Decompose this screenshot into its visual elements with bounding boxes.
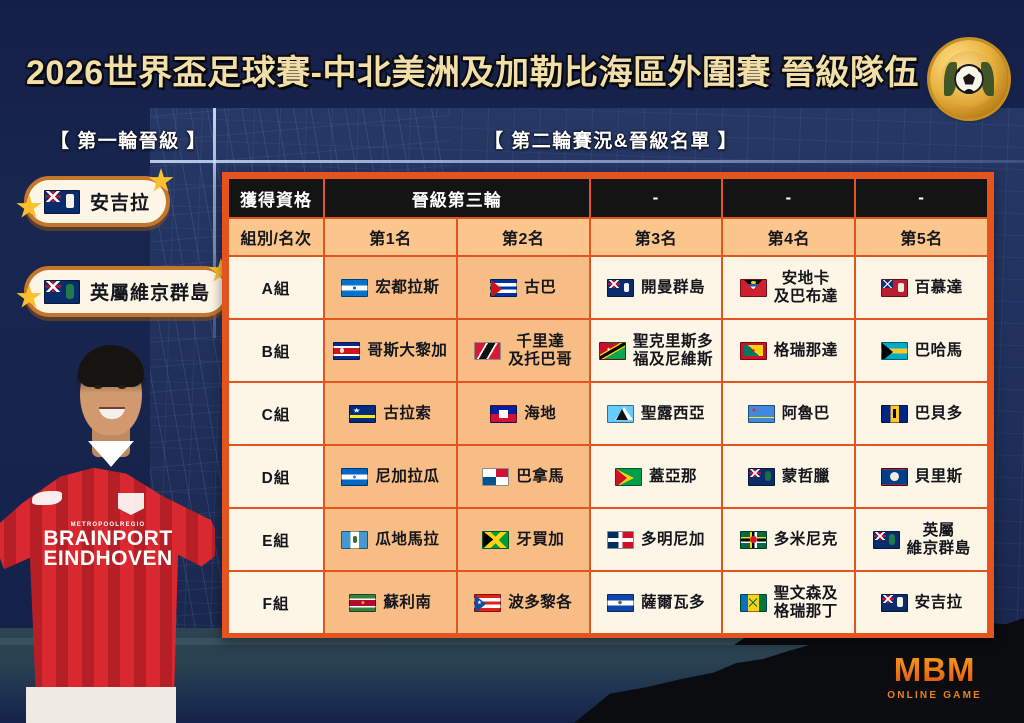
player-eye-left <box>94 385 102 389</box>
team-name: 古巴 <box>524 279 556 296</box>
team-cell[interactable]: 蓋亞那 <box>590 445 723 508</box>
table-rank-row: 組別/名次第1名第2名第3名第4名第5名 <box>228 218 988 256</box>
team-name: 聖文森及 格瑞那丁 <box>774 585 838 620</box>
team-cell[interactable]: 哥斯大黎加 <box>324 319 457 382</box>
team-cell[interactable]: 蒙哲臘 <box>722 445 855 508</box>
team-cell[interactable]: 阿魯巴 <box>722 382 855 445</box>
puma-logo-icon <box>32 491 62 505</box>
team-cell[interactable]: 聖克里斯多 福及尼維斯 <box>590 319 723 382</box>
rank-header: 第1名 <box>324 218 457 256</box>
team-cell-inner: 蘇利南 <box>325 594 456 612</box>
player-hair <box>78 345 144 387</box>
flag-icon-dom <box>607 531 634 549</box>
flag-icon-tri <box>474 342 501 360</box>
team-cell-inner: 千里達 及托巴哥 <box>458 333 589 368</box>
flag-icon-guy <box>615 468 642 486</box>
table-row: C組古拉索海地聖露西亞阿魯巴巴貝多 <box>228 382 988 445</box>
team-name: 多米尼克 <box>774 531 838 548</box>
team-cell[interactable]: 安吉拉 <box>855 571 988 634</box>
team-cell-inner: 蓋亞那 <box>591 468 722 486</box>
team-cell[interactable]: 多米尼克 <box>722 508 855 571</box>
team-cell[interactable]: 英屬 維京群島 <box>855 508 988 571</box>
team-cell[interactable]: 千里達 及托巴哥 <box>457 319 590 382</box>
gold-medal-soccer-icon <box>930 40 1008 118</box>
flag-icon-sur <box>349 594 376 612</box>
team-name: 哥斯大黎加 <box>367 342 447 359</box>
team-cell-inner: 尼加拉瓜 <box>325 468 456 486</box>
team-cell-inner: 聖克里斯多 福及尼維斯 <box>591 333 722 368</box>
flag-icon-hon <box>341 279 368 297</box>
status-row-label: 獲得資格 <box>228 178 324 218</box>
first-round-team-name: 安吉拉 <box>90 188 150 215</box>
first-round-pill[interactable]: 英屬維京群島 <box>24 266 230 317</box>
team-cell-inner: 多明尼加 <box>591 531 722 549</box>
team-cell-inner: 貝里斯 <box>856 468 987 486</box>
team-name: 薩爾瓦多 <box>641 594 705 611</box>
team-cell[interactable]: 聖文森及 格瑞那丁 <box>722 571 855 634</box>
team-cell-inner: 多米尼克 <box>723 531 854 549</box>
team-cell-inner: 古巴 <box>458 279 589 297</box>
team-name: 英屬 維京群島 <box>907 522 971 557</box>
flag-icon-vgb <box>873 531 900 549</box>
team-cell-inner: 波多黎各 <box>458 594 589 612</box>
player-photo: METROPOOLREGIO BRAINPORT EINDHOVEN <box>0 323 215 723</box>
flag-icon-ber <box>881 279 908 297</box>
team-name: 多明尼加 <box>641 531 705 548</box>
flag-icon-crc <box>333 342 360 360</box>
mbm-tagline: ONLINE GAME <box>887 690 982 701</box>
team-name: 巴貝多 <box>915 405 963 422</box>
team-name: 阿魯巴 <box>782 405 830 422</box>
team-cell[interactable]: 古拉索 <box>324 382 457 445</box>
flag-icon-msr <box>748 468 775 486</box>
team-cell-inner: 開曼群島 <box>591 279 722 297</box>
status-cell: - <box>855 178 988 218</box>
team-name: 巴拿馬 <box>516 468 564 485</box>
team-cell-inner: 聖露西亞 <box>591 405 722 423</box>
team-name: 古拉索 <box>383 405 431 422</box>
rank-header: 第3名 <box>590 218 723 256</box>
medal-inner <box>941 51 997 107</box>
flag-icon-grn <box>740 342 767 360</box>
table-status-row: 獲得資格晉級第三輪--- <box>228 178 988 218</box>
team-cell-inner: 薩爾瓦多 <box>591 594 722 612</box>
flag-icon-nca <box>341 468 368 486</box>
team-cell[interactable]: 古巴 <box>457 256 590 319</box>
team-cell-inner: 宏都拉斯 <box>325 279 456 297</box>
team-name: 聖克里斯多 福及尼維斯 <box>633 333 713 368</box>
team-name: 百慕達 <box>915 279 963 296</box>
flag-icon-cuw <box>349 405 376 423</box>
team-name: 巴哈馬 <box>915 342 963 359</box>
mbm-watermark: MBM ONLINE GAME <box>887 651 982 701</box>
team-cell-inner: 阿魯巴 <box>723 405 854 423</box>
flag-icon-abw <box>748 405 775 423</box>
flag-icon-aia <box>44 190 80 214</box>
team-cell[interactable]: 巴拿馬 <box>457 445 590 508</box>
flag-icon-pur <box>474 594 501 612</box>
first-round-team-name: 英屬維京群島 <box>90 278 210 305</box>
flag-icon-aia <box>881 594 908 612</box>
first-round-heading: 【 第一輪晉級 】 <box>50 126 207 153</box>
team-cell[interactable]: 宏都拉斯 <box>324 256 457 319</box>
flag-icon-vgb <box>44 280 80 304</box>
team-cell[interactable]: 聖露西亞 <box>590 382 723 445</box>
flag-icon-brb <box>881 405 908 423</box>
team-name: 牙買加 <box>516 531 564 548</box>
team-name: 尼加拉瓜 <box>375 468 439 485</box>
flag-icon-dma <box>740 531 767 549</box>
team-cell-inner: 瓜地馬拉 <box>325 531 456 549</box>
page-title: 2026世界盃足球賽-中北美洲及加勒比海區外圍賽 晉級隊伍 <box>26 45 919 94</box>
flag-icon-pan <box>482 468 509 486</box>
flag-icon-cay <box>607 279 634 297</box>
status-cell: - <box>722 178 855 218</box>
team-cell-inner: 巴貝多 <box>856 405 987 423</box>
flag-icon-cub <box>490 279 517 297</box>
group-label: C組 <box>228 382 324 445</box>
status-cell: 晉級第三輪 <box>324 178 590 218</box>
page-title-bar: 2026世界盃足球賽-中北美洲及加勒比海區外圍賽 晉級隊伍 <box>0 38 1024 100</box>
team-cell-inner: 巴拿馬 <box>458 468 589 486</box>
team-name: 蒙哲臘 <box>782 468 830 485</box>
group-label: E組 <box>228 508 324 571</box>
rank-header: 第5名 <box>855 218 988 256</box>
team-cell-inner: 英屬 維京群島 <box>856 522 987 557</box>
team-cell-inner: 百慕達 <box>856 279 987 297</box>
team-cell[interactable]: 海地 <box>457 382 590 445</box>
team-name: 開曼群島 <box>641 279 705 296</box>
team-cell[interactable]: 薩爾瓦多 <box>590 571 723 634</box>
flag-icon-jam <box>482 531 509 549</box>
jersey-sponsor-line2: EINDHOVEN <box>28 549 188 569</box>
team-name: 格瑞那達 <box>774 342 838 359</box>
team-name: 安地卡 及巴布達 <box>774 270 838 305</box>
first-round-pill[interactable]: 安吉拉 <box>24 176 170 227</box>
team-name: 聖露西亞 <box>641 405 705 422</box>
table-row: F組蘇利南波多黎各薩爾瓦多聖文森及 格瑞那丁安吉拉 <box>228 571 988 634</box>
team-cell[interactable]: 巴貝多 <box>855 382 988 445</box>
team-cell-inner: 安吉拉 <box>856 594 987 612</box>
flag-icon-hai <box>490 405 517 423</box>
team-name: 宏都拉斯 <box>375 279 439 296</box>
second-round-heading: 【 第二輪賽況&晉級名單 】 <box>484 126 738 153</box>
team-cell[interactable]: 牙買加 <box>457 508 590 571</box>
flag-icon-lca <box>607 405 634 423</box>
team-cell-inner: 哥斯大黎加 <box>325 342 456 360</box>
team-cell[interactable]: 波多黎各 <box>457 571 590 634</box>
team-name: 瓜地馬拉 <box>375 531 439 548</box>
team-name: 海地 <box>524 405 556 422</box>
flag-icon-atg <box>740 279 767 297</box>
team-cell-inner: 蒙哲臘 <box>723 468 854 486</box>
table-row: A組宏都拉斯古巴開曼群島安地卡 及巴布達百慕達 <box>228 256 988 319</box>
mbm-brand: MBM <box>887 651 982 689</box>
team-cell[interactable]: 尼加拉瓜 <box>324 445 457 508</box>
rank-header: 第2名 <box>457 218 590 256</box>
soccer-ball-icon <box>954 64 984 94</box>
group-label: A組 <box>228 256 324 319</box>
rank-header: 第4名 <box>722 218 855 256</box>
team-name: 蓋亞那 <box>649 468 697 485</box>
poster-root: 2026世界盃足球賽-中北美洲及加勒比海區外圍賽 晉級隊伍 【 第一輪晉級 】 … <box>0 0 1024 723</box>
team-cell[interactable]: 蘇利南 <box>324 571 457 634</box>
team-cell-inner: 巴哈馬 <box>856 342 987 360</box>
flag-icon-skn <box>599 342 626 360</box>
team-cell[interactable]: 格瑞那達 <box>722 319 855 382</box>
team-name: 蘇利南 <box>383 594 431 611</box>
team-cell[interactable]: 百慕達 <box>855 256 988 319</box>
table-row: B組哥斯大黎加千里達 及托巴哥聖克里斯多 福及尼維斯格瑞那達巴哈馬 <box>228 319 988 382</box>
team-cell[interactable]: 開曼群島 <box>590 256 723 319</box>
jersey-sponsor-line1: BRAINPORT <box>28 529 188 549</box>
status-cell: - <box>590 178 723 218</box>
player-eye-right <box>118 385 126 389</box>
team-cell-inner: 古拉索 <box>325 405 456 423</box>
team-cell-inner: 聖文森及 格瑞那丁 <box>723 585 854 620</box>
team-name: 貝里斯 <box>915 468 963 485</box>
flag-icon-slv <box>607 594 634 612</box>
background-horizontal-rule <box>150 160 1024 163</box>
group-label: D組 <box>228 445 324 508</box>
player-jersey <box>0 433 215 723</box>
team-cell-inner: 牙買加 <box>458 531 589 549</box>
team-cell-inner: 格瑞那達 <box>723 342 854 360</box>
player-shorts <box>26 687 176 723</box>
rank-row-label: 組別/名次 <box>228 218 324 256</box>
team-cell[interactable]: 巴哈馬 <box>855 319 988 382</box>
flag-icon-bah <box>881 342 908 360</box>
flag-icon-blz <box>881 468 908 486</box>
team-cell-inner: 海地 <box>458 405 589 423</box>
flag-icon-vct <box>740 594 767 612</box>
team-cell-inner: 安地卡 及巴布達 <box>723 270 854 305</box>
qualification-table: 獲得資格晉級第三輪---組別/名次第1名第2名第3名第4名第5名A組宏都拉斯古巴… <box>227 177 989 635</box>
group-label: F組 <box>228 571 324 634</box>
team-name: 安吉拉 <box>915 594 963 611</box>
team-name: 千里達 及托巴哥 <box>508 333 572 368</box>
team-cell[interactable]: 多明尼加 <box>590 508 723 571</box>
group-label: B組 <box>228 319 324 382</box>
team-cell[interactable]: 貝里斯 <box>855 445 988 508</box>
flag-icon-gua <box>341 531 368 549</box>
qualification-table-frame: 獲得資格晉級第三輪---組別/名次第1名第2名第3名第4名第5名A組宏都拉斯古巴… <box>222 172 994 638</box>
team-cell[interactable]: 瓜地馬拉 <box>324 508 457 571</box>
table-row: D組尼加拉瓜巴拿馬蓋亞那蒙哲臘貝里斯 <box>228 445 988 508</box>
table-row: E組瓜地馬拉牙買加多明尼加多米尼克英屬 維京群島 <box>228 508 988 571</box>
jersey-sponsor-text: METROPOOLREGIO BRAINPORT EINDHOVEN <box>28 523 188 569</box>
team-cell[interactable]: 安地卡 及巴布達 <box>722 256 855 319</box>
team-name: 波多黎各 <box>508 594 572 611</box>
